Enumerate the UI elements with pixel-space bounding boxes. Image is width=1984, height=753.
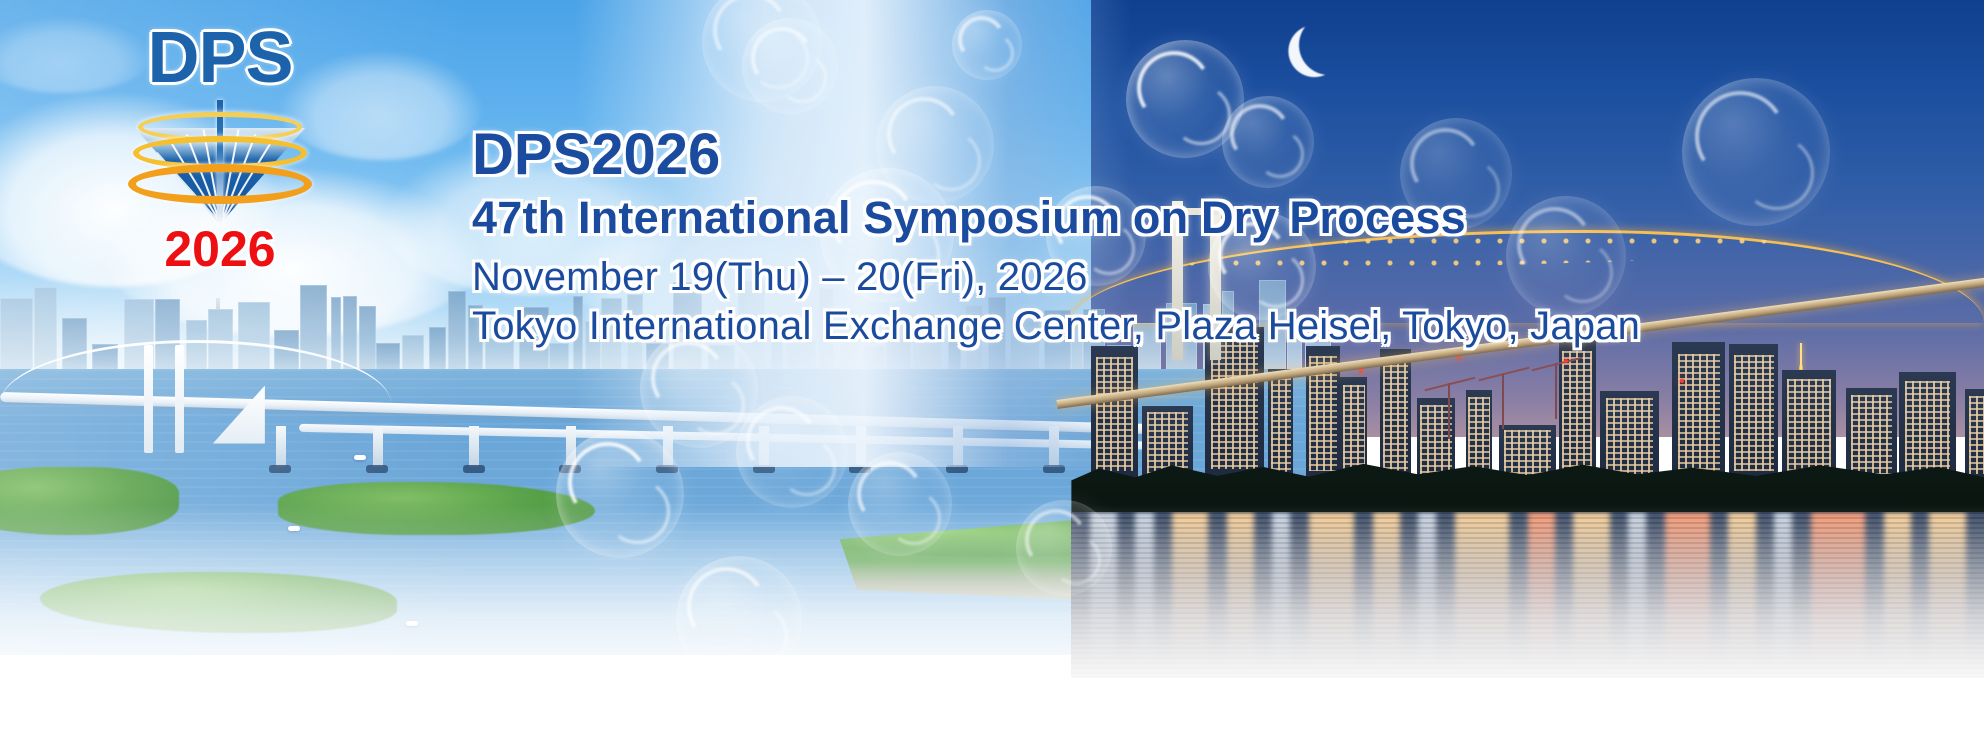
event-title: DPS2026 bbox=[472, 124, 1892, 185]
bridge-pier bbox=[469, 426, 479, 467]
bridge-pier-base bbox=[366, 465, 388, 473]
bridge-pylon bbox=[175, 345, 184, 453]
event-subtitle: 47th International Symposium on Dry Proc… bbox=[472, 193, 1892, 243]
cloud bbox=[279, 51, 482, 161]
bottom-white-fade bbox=[0, 505, 1984, 753]
event-venue: Tokyo International Exchange Center, Pla… bbox=[472, 302, 1892, 351]
bridge-pier-base bbox=[269, 465, 291, 473]
dps-logo[interactable]: DPS 2026 bbox=[131, 22, 309, 270]
cloud bbox=[0, 17, 152, 93]
conference-banner: DPS 2026 DPS2026 47th International Symp… bbox=[0, 0, 1984, 753]
logo-funnel-graphic bbox=[135, 106, 305, 226]
bridge-pier bbox=[276, 426, 286, 467]
event-dates: November 19(Thu) – 20(Fri), 2026 bbox=[472, 253, 1892, 302]
logo-year: 2026 bbox=[131, 224, 309, 274]
logo-ring bbox=[128, 164, 312, 204]
bridge-pylon bbox=[144, 345, 153, 453]
logo-acronym: DPS bbox=[131, 22, 309, 94]
bridge-pier-base bbox=[463, 465, 485, 473]
title-block: DPS2026 47th International Symposium on … bbox=[472, 124, 1892, 351]
bridge-pier bbox=[373, 426, 383, 467]
